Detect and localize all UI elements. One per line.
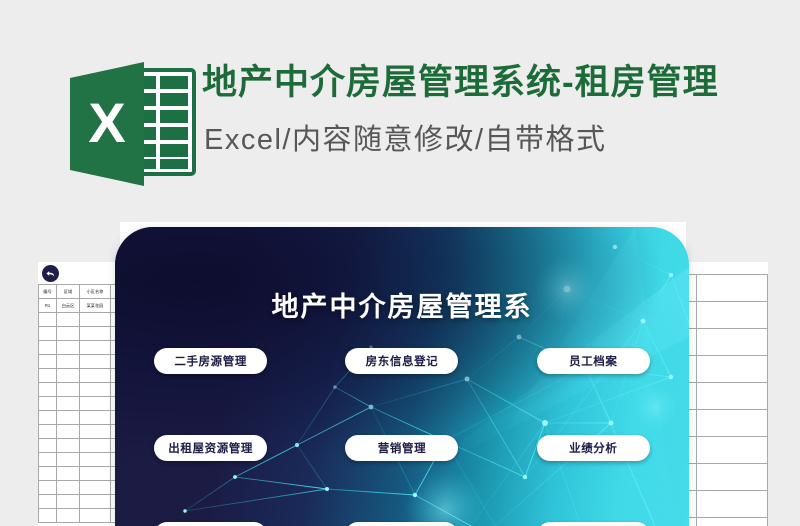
table-cell <box>697 356 768 383</box>
back-arrow-icon[interactable] <box>42 265 59 282</box>
table-cell <box>697 275 768 302</box>
table-row <box>685 437 768 464</box>
table-cell <box>57 509 80 523</box>
table-cell <box>39 509 57 523</box>
menu-button-landlord-registration[interactable]: 房东信息登记 <box>345 348 458 374</box>
menu-row-2: 出租屋资源管理 营销管理 业绩分析 <box>115 435 689 461</box>
table-cell <box>80 383 111 397</box>
table-cell <box>39 327 57 341</box>
table-cell <box>39 481 57 495</box>
column-header: 小区名称 <box>80 285 111 299</box>
table-row <box>685 410 768 437</box>
menu-cell: 二手房源管理 <box>115 348 306 374</box>
menu-button-income-expense-details[interactable]: 收支明细 <box>537 522 650 526</box>
table-cell <box>80 341 111 355</box>
table-cell <box>80 425 111 439</box>
menu-button-marketing-management[interactable]: 营销管理 <box>345 435 458 461</box>
table-row <box>685 464 768 491</box>
table-cell <box>80 411 111 425</box>
menu-row-1: 二手房源管理 房东信息登记 员工档案 <box>115 348 689 374</box>
table-cell <box>80 313 111 327</box>
table-cell <box>697 518 768 526</box>
table-cell <box>57 481 80 495</box>
hero-dashboard-card: 地产中介房屋管理系 二手房源管理 房东信息登记 员工档案 出租屋资源管理 营销管… <box>115 227 689 526</box>
menu-button-lease-registration[interactable]: 房屋租赁登记 <box>154 522 267 526</box>
table-cell <box>39 369 57 383</box>
table-cell <box>80 481 111 495</box>
table-row <box>685 518 768 526</box>
table-row <box>685 302 768 329</box>
table-cell <box>80 467 111 481</box>
table-cell <box>39 425 57 439</box>
table-cell <box>57 355 80 369</box>
table-cell <box>57 341 80 355</box>
table-cell <box>39 341 57 355</box>
table-cell <box>57 327 80 341</box>
table-cell <box>697 329 768 356</box>
table-cell <box>39 383 57 397</box>
menu-cell: 业绩分析 <box>498 435 689 461</box>
table-cell <box>57 439 80 453</box>
menu-button-employee-records[interactable]: 员工档案 <box>537 348 650 374</box>
left-spreadsheet-fragment: 编号 区域 小区名称 房 R1 白云区 某某花园 高 <box>38 262 124 526</box>
table-cell <box>57 495 80 509</box>
table-cell <box>39 467 57 481</box>
table-cell <box>39 313 57 327</box>
table-row <box>685 491 768 518</box>
table-cell <box>57 397 80 411</box>
table-cell <box>39 355 57 369</box>
network-particle-graphic <box>115 227 689 526</box>
menu-row-3: 房屋租赁登记 客户信息管理 收支明细 <box>115 522 689 526</box>
table-row <box>685 329 768 356</box>
table-cell <box>39 397 57 411</box>
table-cell <box>39 453 57 467</box>
menu-cell: 客户信息管理 <box>306 522 497 526</box>
screenshot-root: X 地产中介房屋管理系统-租房管理 Excel/内容随意修改/自带格式 编号 区… <box>0 0 800 526</box>
table-cell <box>80 509 111 523</box>
table-cell <box>697 383 768 410</box>
table-cell <box>80 355 111 369</box>
page-subtitle: Excel/内容随意修改/自带格式 <box>204 118 784 162</box>
table-cell <box>57 425 80 439</box>
column-header: 编号 <box>39 285 57 299</box>
table-cell <box>57 411 80 425</box>
table-cell <box>80 453 111 467</box>
table-row <box>685 383 768 410</box>
table-cell <box>39 495 57 509</box>
menu-cell: 出租屋资源管理 <box>115 435 306 461</box>
table-cell <box>80 369 111 383</box>
menu-cell: 员工档案 <box>498 348 689 374</box>
table-row <box>685 275 768 302</box>
right-sheet-table <box>684 274 768 526</box>
left-sheet-toolbar <box>38 262 124 284</box>
menu-button-rental-resources[interactable]: 出租屋资源管理 <box>154 435 267 461</box>
table-cell <box>80 397 111 411</box>
menu-button-secondhand-listings[interactable]: 二手房源管理 <box>154 348 267 374</box>
table-cell <box>697 410 768 437</box>
table-cell <box>697 437 768 464</box>
excel-file-icon: X <box>62 60 202 188</box>
page-title: 地产中介房屋管理系统-租房管理 <box>202 58 782 108</box>
table-cell <box>80 439 111 453</box>
table-cell <box>697 302 768 329</box>
menu-button-performance-analysis[interactable]: 业绩分析 <box>537 435 650 461</box>
dashboard-title: 地产中介房屋管理系 <box>115 285 689 324</box>
table-cell: 某某花园 <box>80 299 111 313</box>
table-cell <box>697 491 768 518</box>
table-cell: R1 <box>39 299 57 313</box>
table-cell <box>57 313 80 327</box>
right-spreadsheet-fragment <box>684 262 768 526</box>
menu-cell: 房东信息登记 <box>306 348 497 374</box>
menu-button-customer-management[interactable]: 客户信息管理 <box>345 522 458 526</box>
table-cell <box>697 464 768 491</box>
table-cell: 白云区 <box>57 299 80 313</box>
table-cell <box>39 411 57 425</box>
menu-cell: 房屋租赁登记 <box>115 522 306 526</box>
table-cell <box>80 495 111 509</box>
table-row <box>685 356 768 383</box>
table-cell <box>57 383 80 397</box>
column-header: 区域 <box>57 285 80 299</box>
menu-cell: 收支明细 <box>498 522 689 526</box>
table-cell <box>57 467 80 481</box>
table-cell <box>39 439 57 453</box>
table-cell <box>80 327 111 341</box>
menu-cell: 营销管理 <box>306 435 497 461</box>
svg-text:X: X <box>88 91 125 154</box>
table-cell <box>57 453 80 467</box>
page-header: X 地产中介房屋管理系统-租房管理 Excel/内容随意修改/自带格式 <box>0 48 800 198</box>
table-cell <box>57 369 80 383</box>
